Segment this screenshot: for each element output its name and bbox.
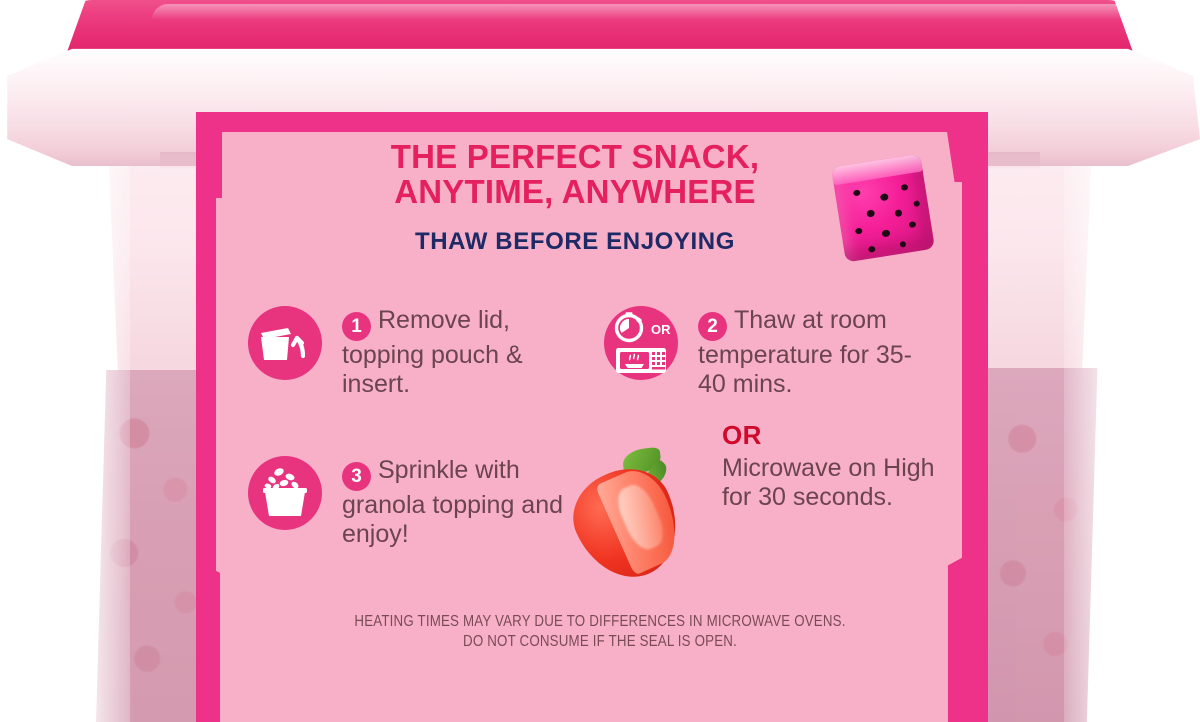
step-3-text: 3Sprinkle with granola topping and enjoy… bbox=[342, 456, 582, 549]
granola-sprinkle-icon bbox=[248, 456, 322, 530]
alternate-or-label: OR bbox=[722, 420, 762, 451]
svg-text:OR: OR bbox=[651, 322, 671, 337]
alternate-instruction: Microwave on High for 30 seconds. bbox=[722, 454, 958, 512]
label-accent-corner-bl bbox=[196, 560, 220, 722]
step-2-label: Thaw at room temperature for 35-40 mins. bbox=[698, 306, 912, 398]
tub-gloss-right bbox=[1064, 120, 1116, 722]
dragonfruit-cube-photo bbox=[831, 154, 935, 263]
step-2-text: 2Thaw at room temperature for 35-40 mins… bbox=[698, 306, 930, 399]
fine-print-line-2: DO NOT CONSUME IF THE SEAL IS OPEN. bbox=[299, 632, 901, 652]
step-2-number: 2 bbox=[698, 312, 727, 341]
headline: THE PERFECT SNACK, ANYTIME, ANYWHERE bbox=[250, 140, 900, 210]
step-1-text: 1Remove lid, topping pouch & insert. bbox=[342, 306, 582, 399]
step-3: 3Sprinkle with granola topping and enjoy… bbox=[248, 456, 582, 549]
fine-print: HEATING TIMES MAY VARY DUE TO DIFFERENCE… bbox=[299, 612, 901, 652]
label-accent-top bbox=[196, 112, 988, 132]
headline-line-1: THE PERFECT SNACK, bbox=[250, 140, 900, 175]
headline-line-2: ANYTIME, ANYWHERE bbox=[250, 175, 900, 210]
step-1-number: 1 bbox=[342, 312, 371, 341]
step-3-number: 3 bbox=[342, 462, 371, 491]
tub-gloss-left bbox=[84, 120, 130, 722]
tub-open-lid-icon bbox=[248, 306, 322, 380]
step-2: OR 2Thaw at room temperature for 35-40 m… bbox=[604, 306, 930, 399]
package-photo: THE PERFECT SNACK, ANYTIME, ANYWHERE THA… bbox=[0, 0, 1200, 722]
label-accent-corner-tl bbox=[196, 112, 222, 198]
label-accent-corner-br bbox=[948, 548, 980, 722]
step-1: 1Remove lid, topping pouch & insert. bbox=[248, 306, 582, 399]
subheadline: THAW BEFORE ENJOYING bbox=[250, 228, 900, 256]
lid-highlight bbox=[152, 4, 1172, 20]
step-3-label: Sprinkle with granola topping and enjoy! bbox=[342, 456, 563, 548]
timer-or-microwave-icon: OR bbox=[604, 306, 678, 380]
fine-print-line-1: HEATING TIMES MAY VARY DUE TO DIFFERENCE… bbox=[299, 612, 901, 632]
